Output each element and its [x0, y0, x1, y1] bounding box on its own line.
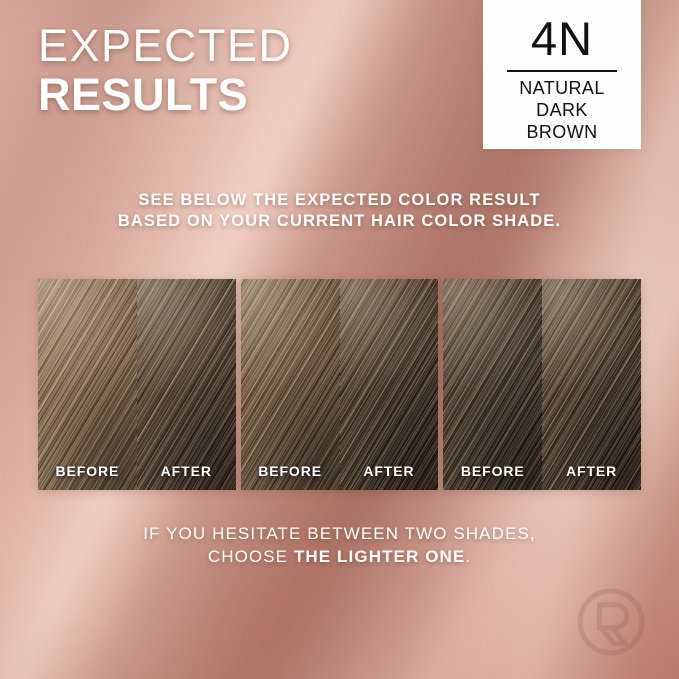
advice-line-2-suffix: . [465, 547, 471, 566]
before-swatch: BEFORE [241, 279, 340, 490]
page-title-line-2: RESULTS [38, 70, 293, 120]
hair-texture [38, 279, 137, 490]
hair-texture [137, 279, 236, 490]
comparison-panel: BEFORE AFTER [38, 279, 236, 490]
hair-texture [542, 279, 641, 490]
advice-line-2-emphasis: THE LIGHTER ONE [294, 547, 465, 566]
advice-line-2: CHOOSE THE LIGHTER ONE. [0, 545, 679, 568]
shade-name: NATURAL DARK BROWN [519, 77, 604, 143]
advice-line-2-prefix: CHOOSE [208, 547, 294, 566]
instruction-line-1: SEE BELOW THE EXPECTED COLOR RESULT [0, 190, 679, 211]
hair-texture [443, 279, 542, 490]
comparison-panel: BEFORE AFTER [241, 279, 439, 490]
after-swatch: AFTER [542, 279, 641, 490]
after-label: AFTER [137, 463, 236, 479]
page-title-line-1: EXPECTED [38, 22, 293, 70]
before-swatch: BEFORE [38, 279, 137, 490]
shade-name-line-3: BROWN [519, 121, 604, 143]
shade-name-line-2: DARK [519, 99, 604, 121]
hair-texture [340, 279, 439, 490]
shade-divider [507, 70, 617, 72]
after-label: AFTER [340, 463, 439, 479]
advice-text: IF YOU HESITATE BETWEEN TWO SHADES, CHOO… [0, 522, 679, 568]
before-label: BEFORE [38, 463, 137, 479]
after-swatch: AFTER [137, 279, 236, 490]
shade-name-line-1: NATURAL [519, 77, 604, 99]
shade-badge: 4N NATURAL DARK BROWN [483, 0, 641, 149]
instruction-line-2: BASED ON YOUR CURRENT HAIR COLOR SHADE. [0, 211, 679, 232]
circle-r-logo-icon [575, 586, 647, 658]
instruction-text: SEE BELOW THE EXPECTED COLOR RESULT BASE… [0, 190, 679, 232]
hair-texture [241, 279, 340, 490]
advice-line-1: IF YOU HESITATE BETWEEN TWO SHADES, [0, 522, 679, 545]
page-title: EXPECTED RESULTS [38, 22, 293, 120]
after-label: AFTER [542, 463, 641, 479]
shade-code: 4N [531, 14, 593, 64]
before-label: BEFORE [443, 463, 542, 479]
comparison-panel: BEFORE AFTER [443, 279, 641, 490]
promo-canvas: EXPECTED RESULTS 4N NATURAL DARK BROWN S… [0, 0, 679, 679]
before-label: BEFORE [241, 463, 340, 479]
before-after-strip: BEFORE AFTER BEFORE AFTER BEFORE [38, 279, 641, 490]
after-swatch: AFTER [340, 279, 439, 490]
before-swatch: BEFORE [443, 279, 542, 490]
